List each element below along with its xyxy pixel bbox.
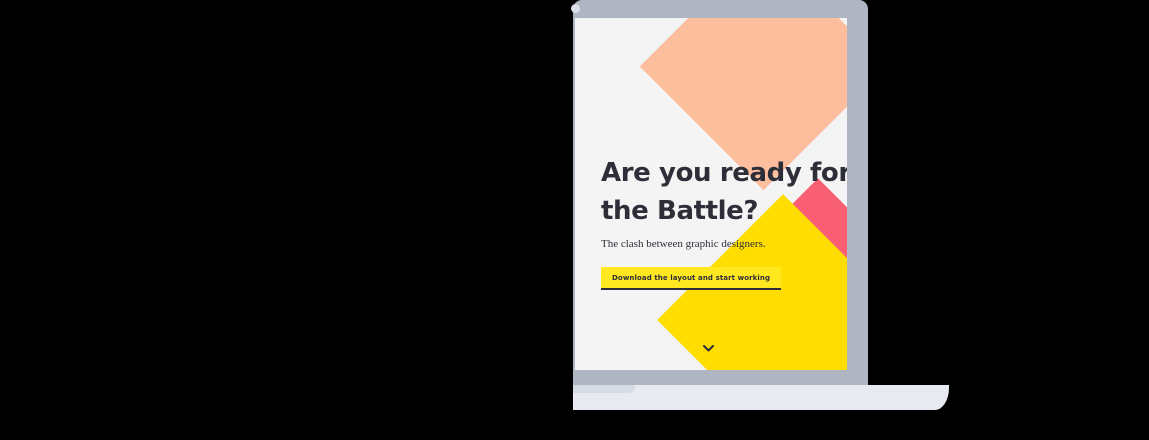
laptop-hinge-bar xyxy=(573,370,868,385)
laptop-screen-viewport: Are you ready for the Battle? The clash … xyxy=(575,18,847,370)
screenshot-canvas: Are you ready for the Battle? The clash … xyxy=(0,0,1149,440)
download-layout-button[interactable]: Download the layout and start working xyxy=(601,267,781,290)
hero-subtitle: The clash between graphic designers. xyxy=(601,237,847,251)
laptop-base-notch xyxy=(573,385,635,393)
webcam-dot-icon xyxy=(571,4,580,13)
hero-section: Are you ready for the Battle? The clash … xyxy=(601,154,847,290)
laptop-mockup: Are you ready for the Battle? The clash … xyxy=(0,0,1149,440)
chevron-down-icon[interactable] xyxy=(700,340,716,356)
page-title: Are you ready for the Battle? xyxy=(601,154,847,230)
